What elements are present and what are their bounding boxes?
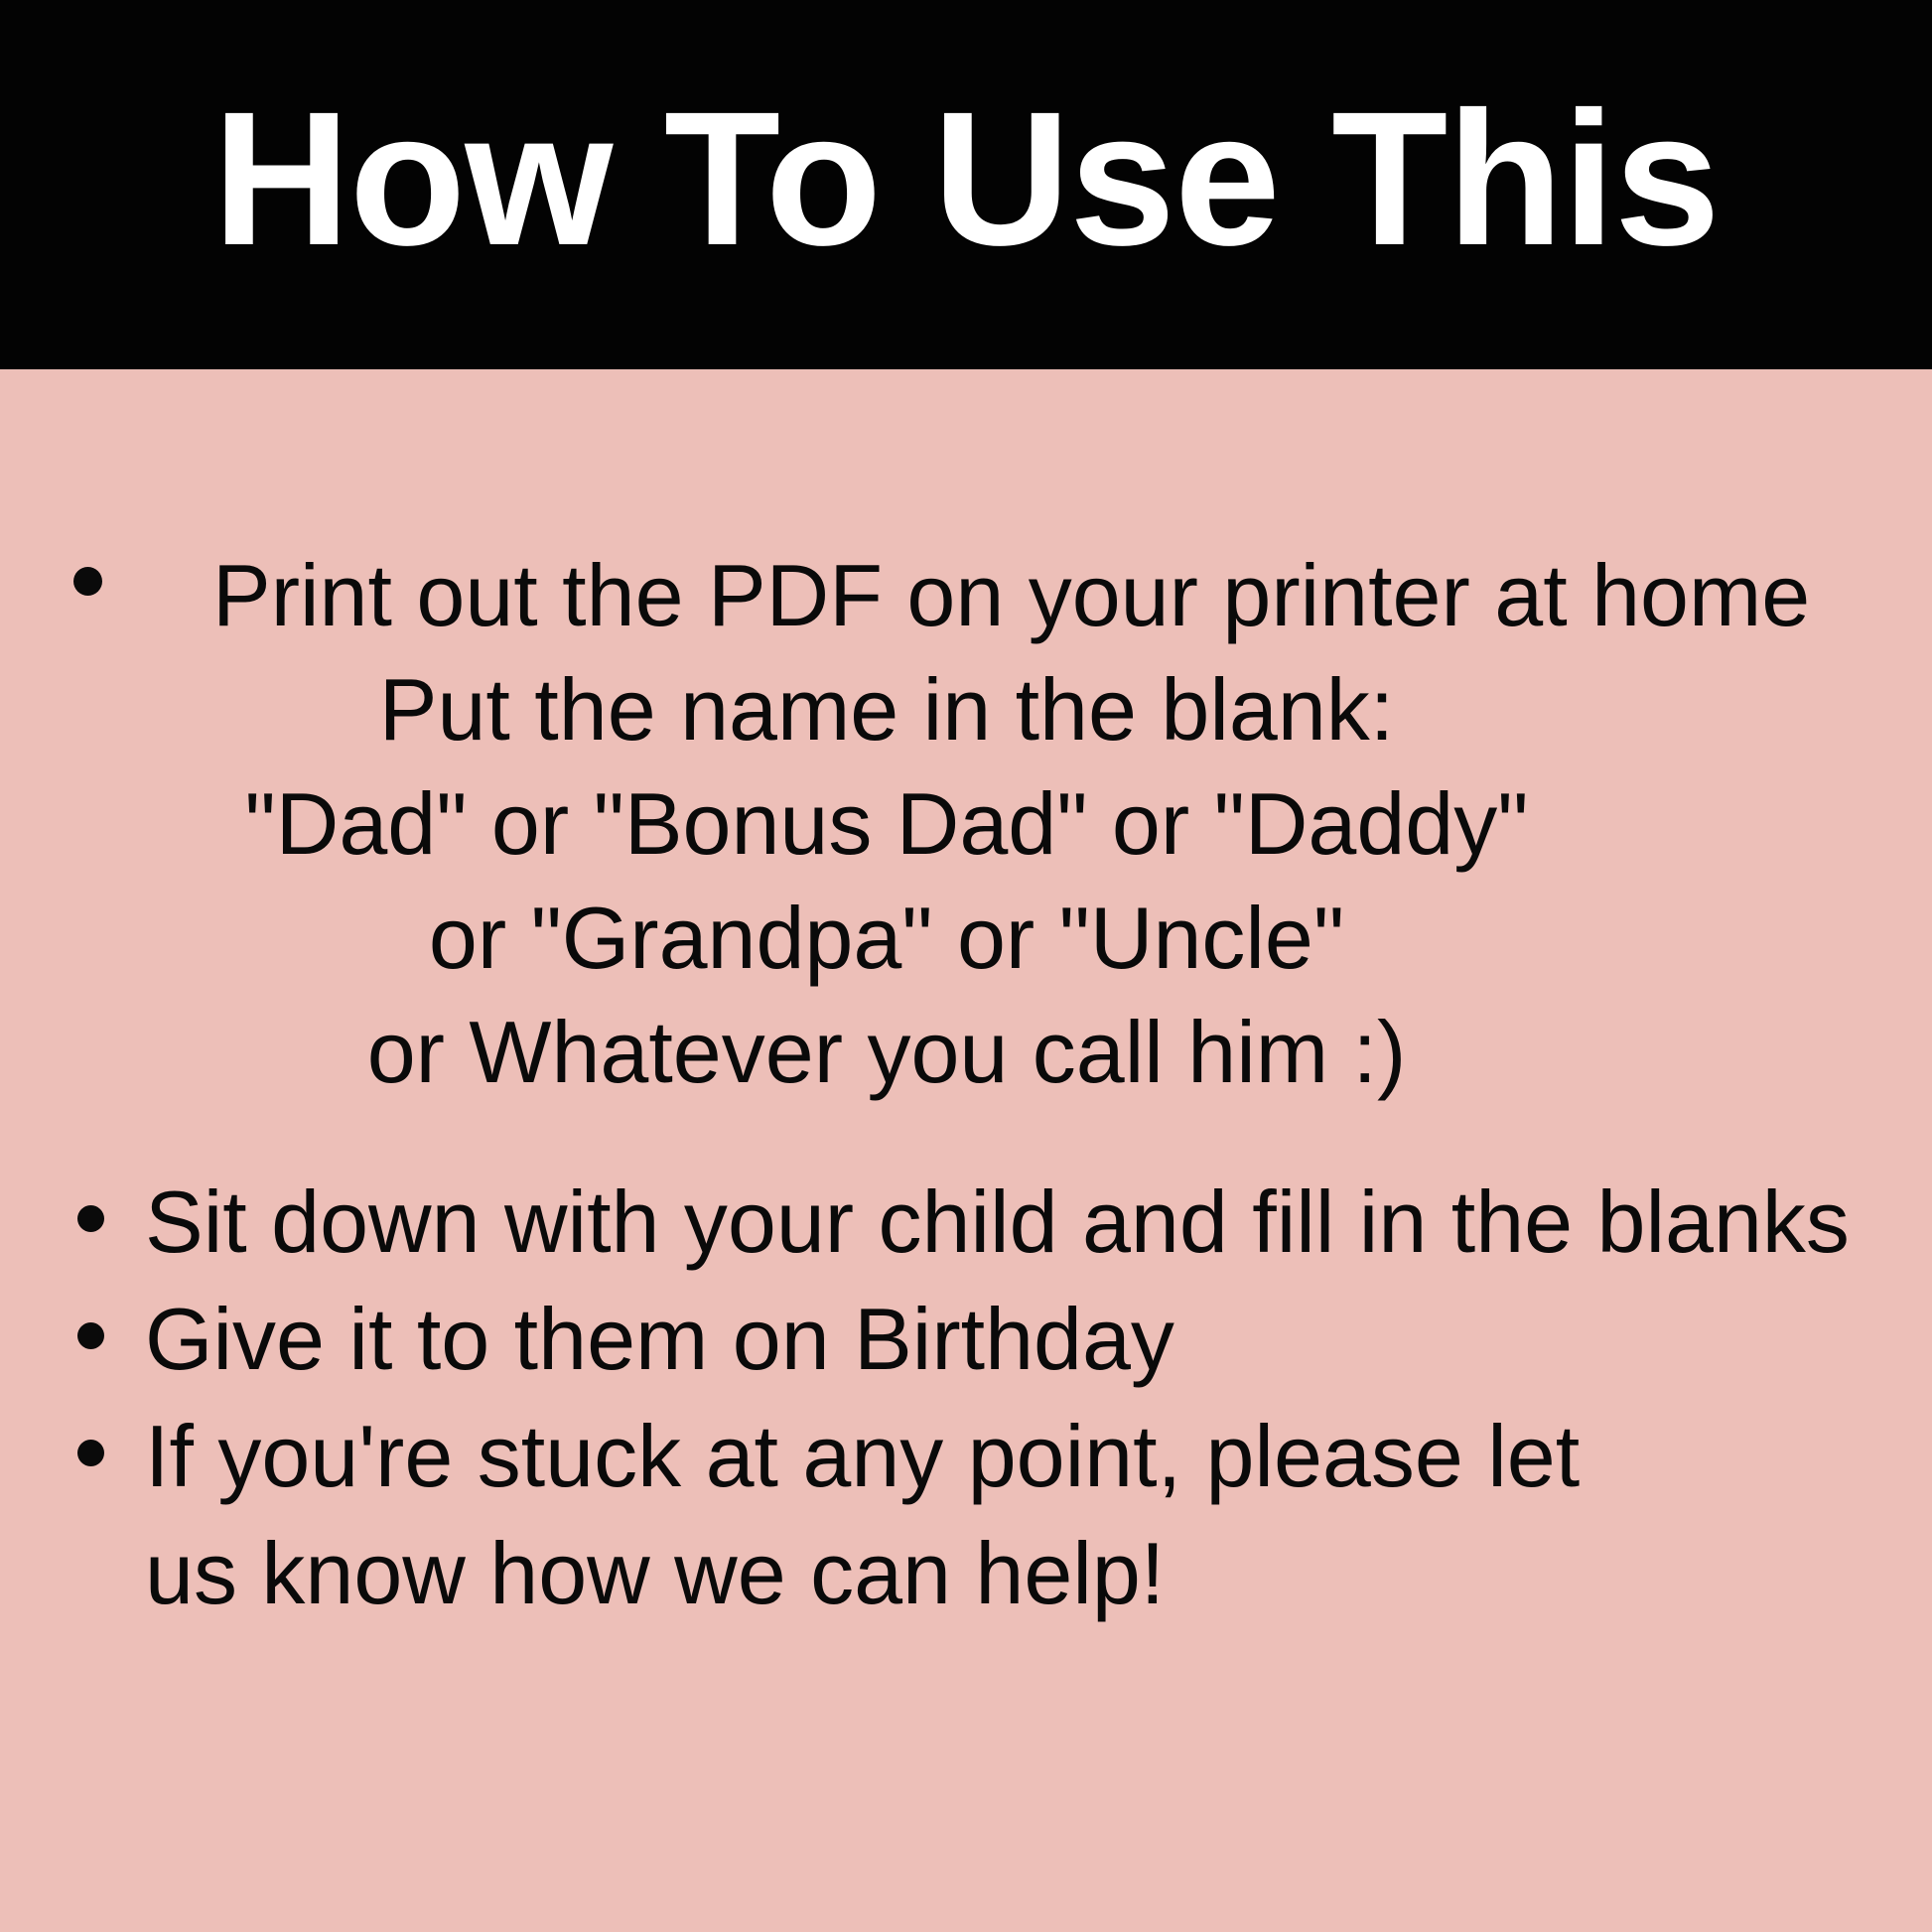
task-item-fill-in-blanks: Sit down with your child and fill in the… xyxy=(145,1164,1932,1281)
header-banner: How To Use This xyxy=(0,0,1932,369)
body-area: Print out the PDF on your printer at hom… xyxy=(0,369,1932,1932)
intro-line-whatever-you-call-him: or Whatever you call him :) xyxy=(0,995,1932,1109)
list-item: Give it to them on Birthday xyxy=(0,1281,1932,1398)
bullet-dot-icon xyxy=(77,1205,104,1232)
intro-line-put-name: Put the name in the blank: xyxy=(0,652,1932,766)
bullet-dot-icon xyxy=(73,567,102,596)
poster-canvas: How To Use This Print out the PDF on you… xyxy=(0,0,1932,1932)
intro-line-print-pdf: Print out the PDF on your printer at hom… xyxy=(212,538,1810,652)
list-item: If you're stuck at any point, please let… xyxy=(0,1398,1932,1632)
bullet-dot-icon xyxy=(77,1322,104,1349)
page-title: How To Use This xyxy=(212,83,1720,274)
list-item: Sit down with your child and fill in the… xyxy=(0,1164,1932,1281)
intro-line-grandpa-options: or "Grandpa" or "Uncle" xyxy=(0,881,1932,995)
task-item-give-on-birthday: Give it to them on Birthday xyxy=(145,1281,1932,1398)
intro-instruction-block: Print out the PDF on your printer at hom… xyxy=(0,538,1932,1109)
task-item-get-help: If you're stuck at any point, please let… xyxy=(145,1398,1694,1632)
intro-line-dad-options: "Dad" or "Bonus Dad" or "Daddy" xyxy=(0,766,1932,881)
intro-first-row: Print out the PDF on your printer at hom… xyxy=(0,538,1932,652)
task-list: Sit down with your child and fill in the… xyxy=(0,1164,1932,1632)
bullet-dot-icon xyxy=(77,1440,104,1466)
